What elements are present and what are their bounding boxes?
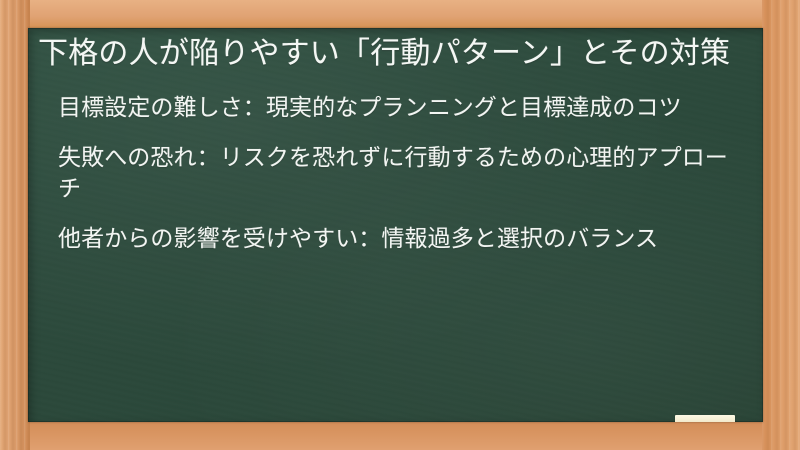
chalkboard-wooden-frame: 下格の人が陥りやすい「行動パターン」とその対策 目標設定の難しさ：現実的なプラン… (0, 0, 800, 450)
topic-list-item: 失敗への恐れ：リスクを恐れずに行動するための心理的アプローチ (58, 142, 741, 204)
topic-list-item: 他者からの影響を受けやすい：情報過多と選択のバランス (58, 223, 741, 254)
topic-list: 目標設定の難しさ：現実的なプランニングと目標達成のコツ 失敗への恐れ：リスクを恐… (34, 92, 747, 254)
frame-left-rail (0, 0, 30, 450)
board-content: 下格の人が陥りやすい「行動パターン」とその対策 目標設定の難しさ：現実的なプラン… (28, 28, 763, 422)
topic-list-item: 目標設定の難しさ：現実的なプランニングと目標達成のコツ (58, 92, 741, 123)
frame-right-rail (762, 0, 800, 450)
frame-bottom-rail (0, 420, 800, 450)
board-title: 下格の人が陥りやすい「行動パターン」とその対策 (34, 34, 747, 74)
chalkboard-surface: 下格の人が陥りやすい「行動パターン」とその対策 目標設定の難しさ：現実的なプラン… (28, 28, 763, 422)
frame-top-rail (0, 0, 800, 30)
chalk-stick-icon (675, 415, 735, 422)
